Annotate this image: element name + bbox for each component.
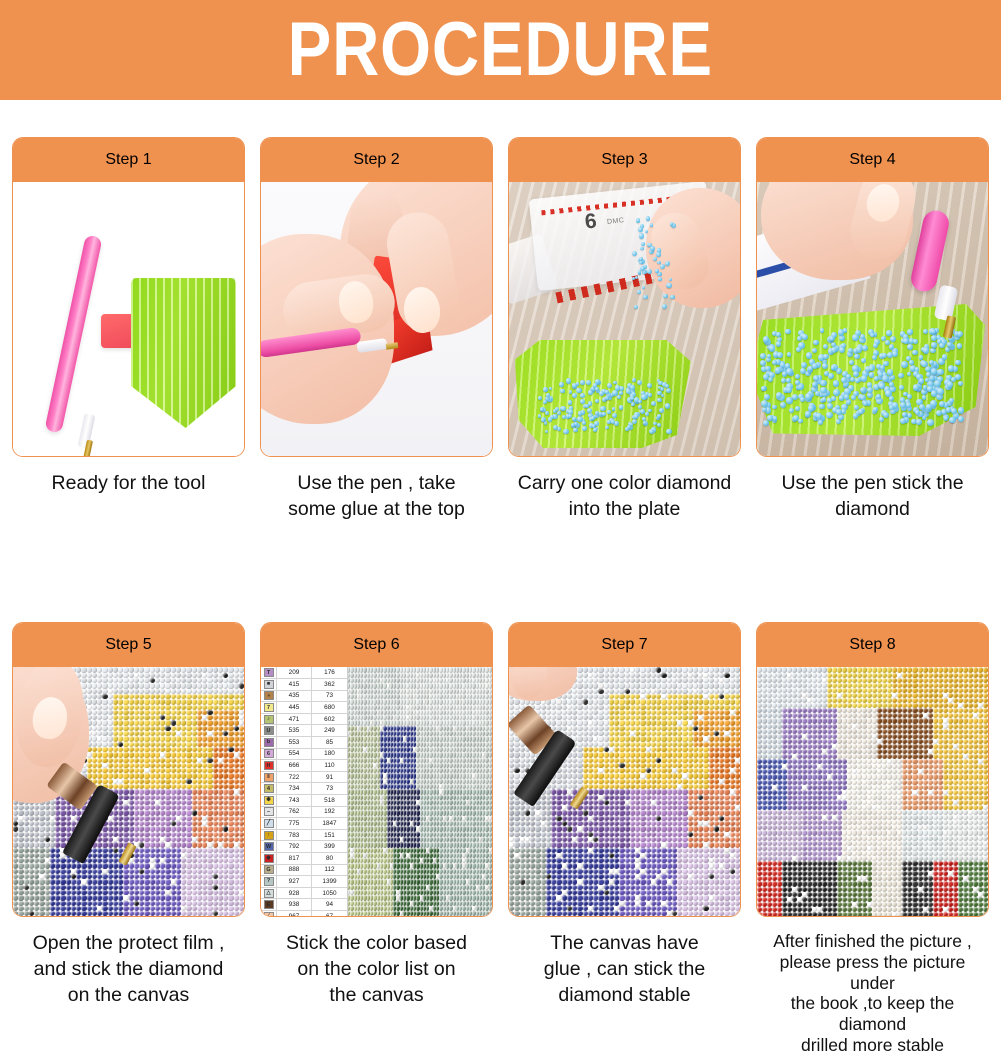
mosaic-bead <box>81 895 86 900</box>
diamond-bead <box>797 336 802 341</box>
diamond-bead <box>907 329 913 335</box>
mosaic-bead <box>123 752 128 757</box>
diamond-bead <box>921 361 928 368</box>
diamond-bead <box>631 403 635 407</box>
diamond-bead <box>883 412 889 418</box>
mosaic-bead <box>228 842 233 847</box>
mosaic-bead <box>150 863 155 868</box>
diamond-bead <box>855 378 860 383</box>
diamond-bead <box>900 418 906 424</box>
step-cell-1: Step 1 Ready for the tool <box>12 137 245 522</box>
diamond-bead <box>780 362 786 368</box>
diamond-bead <box>820 380 827 387</box>
mosaic-bead <box>81 683 86 688</box>
mosaic-bead <box>449 826 452 831</box>
mosaic-bead <box>239 773 244 778</box>
mosaic-bead <box>239 810 244 815</box>
diamond-bead <box>641 242 645 246</box>
mosaic-bead <box>165 699 170 704</box>
step-4-photo <box>757 182 988 456</box>
mosaic-bead <box>102 667 107 672</box>
mosaic-bead <box>186 810 191 815</box>
mosaic-bead <box>18 810 23 815</box>
mosaic-bead <box>87 895 92 900</box>
diamond-bead <box>776 341 781 346</box>
mosaic-bead <box>18 863 23 868</box>
mosaic-bead <box>108 683 113 688</box>
diamond-bead <box>873 343 878 348</box>
mosaic-bead <box>144 736 149 741</box>
diamond-bead <box>591 416 595 420</box>
mosaic-bead <box>234 667 239 672</box>
diamond-bead <box>930 348 936 354</box>
mosaic-bead <box>165 810 170 815</box>
mosaic-bead <box>186 895 191 900</box>
mosaic-bead <box>207 736 212 741</box>
mosaic-bead <box>150 758 155 763</box>
diamond-bead <box>907 344 913 350</box>
mosaic-bead <box>66 826 71 831</box>
mosaic-bead <box>239 752 244 757</box>
diamond-bead <box>958 407 964 413</box>
diamond-bead <box>545 411 549 415</box>
mosaic-bead <box>144 895 149 900</box>
mosaic-bead <box>489 699 492 704</box>
mosaic-bead <box>144 667 149 672</box>
diamond-bead <box>568 400 573 405</box>
mosaic-bead <box>129 683 134 688</box>
mosaic-bead <box>129 667 134 672</box>
mosaic-bead <box>449 720 452 725</box>
step-card-4[interactable]: Step 4 <box>756 137 989 457</box>
mosaic-row <box>13 826 244 831</box>
page-banner: PROCEDURE <box>0 0 1001 100</box>
diamond-bead <box>903 338 909 344</box>
mosaic-row <box>13 879 244 884</box>
mosaic-bead <box>39 879 44 884</box>
mosaic-bead <box>186 863 191 868</box>
diamond-bead <box>861 358 866 363</box>
mosaic-bead <box>239 736 244 741</box>
diamond-bead <box>582 421 586 425</box>
mosaic-bead <box>165 826 170 831</box>
mosaic-bead <box>144 810 149 815</box>
mosaic-bead <box>449 842 452 847</box>
diamond-bead <box>611 420 615 424</box>
diamond-bead <box>780 402 786 408</box>
mosaic-bead <box>213 752 218 757</box>
mosaic-bead <box>129 720 134 725</box>
mosaic-bead <box>213 810 218 815</box>
mosaic-row <box>347 826 492 831</box>
mosaic-bead <box>228 667 233 672</box>
step-5-photo <box>13 667 244 916</box>
diamond-bead <box>772 405 777 410</box>
mosaic-bead <box>234 773 239 778</box>
diamond-bead <box>637 290 641 294</box>
mosaic-bead <box>150 699 155 704</box>
diamond-bead <box>812 382 817 387</box>
diamond-bead <box>939 401 945 407</box>
mosaic-bead <box>129 699 134 704</box>
diamond-bead <box>869 372 874 377</box>
diamond-bead <box>619 391 623 395</box>
diamond-bead <box>560 389 565 394</box>
step-1-header: Step 1 <box>13 138 244 182</box>
diamond-bead <box>824 371 829 376</box>
diamond-bead <box>931 329 936 334</box>
diamond-bead <box>634 305 638 309</box>
diamond-bead <box>889 396 894 401</box>
diamond-bead <box>942 354 947 359</box>
mosaic-bead <box>87 879 92 884</box>
mosaic-bead <box>108 699 113 704</box>
mosaic-bead <box>192 826 197 831</box>
diamond-bead <box>795 380 800 385</box>
step-card-1[interactable]: Step 1 <box>12 137 245 457</box>
diamond-bead <box>805 411 810 416</box>
mosaic-bead <box>192 810 197 815</box>
mosaic-bead <box>186 683 191 688</box>
mosaic-bead <box>60 810 65 815</box>
diamond-bead <box>657 261 660 264</box>
mosaic-row <box>347 789 492 794</box>
mosaic-bead <box>228 826 233 831</box>
diamond-bead <box>946 407 952 413</box>
mosaic-bead <box>207 773 212 778</box>
mosaic-bead <box>186 879 191 884</box>
mosaic-bead <box>489 736 492 741</box>
diamond-bead <box>651 401 656 406</box>
diamond-bead <box>612 390 617 395</box>
step-card-5[interactable]: Step 5 <box>12 622 245 917</box>
step-cell-3: Step 3 6 DMC <box>508 137 741 522</box>
mosaic-bead <box>129 895 134 900</box>
mosaic-bead <box>213 683 218 688</box>
mosaic-bead <box>192 879 197 884</box>
mosaic-bead <box>123 810 128 815</box>
diamond-bead <box>775 367 782 374</box>
mosaic-bead <box>45 863 50 868</box>
diamond-bead <box>594 421 599 426</box>
diamond-bead <box>657 414 661 418</box>
mosaic-row <box>347 773 492 778</box>
diamond-bead <box>580 380 585 385</box>
diamond-bead <box>831 347 837 353</box>
mosaic-bead <box>228 879 233 884</box>
mosaic-bead <box>144 758 149 763</box>
diamond-bead <box>887 369 893 375</box>
mosaic-bead <box>129 826 134 831</box>
diamond-bead <box>919 378 924 383</box>
mosaic-bead <box>144 826 149 831</box>
mosaic-bead <box>150 810 155 815</box>
mosaic-bead <box>192 842 197 847</box>
mosaic-bead <box>171 863 176 868</box>
mosaic-bead <box>234 758 239 763</box>
mosaic-bead <box>102 758 107 763</box>
mosaic-bead <box>228 773 233 778</box>
mosaic-bead <box>165 842 170 847</box>
diamond-bead <box>767 415 773 421</box>
diamond-bead <box>882 375 889 382</box>
step-4-header: Step 4 <box>757 138 988 182</box>
diamond-bead <box>828 373 834 379</box>
diamond-bead <box>760 360 766 366</box>
diamond-bead <box>557 411 561 415</box>
mosaic-bead <box>186 773 191 778</box>
mosaic-bead <box>87 863 92 868</box>
mosaic-bead <box>108 752 113 757</box>
mosaic-bead <box>228 736 233 741</box>
diamond-bead <box>573 428 578 433</box>
mosaic-bead <box>171 699 176 704</box>
step-card-6[interactable]: Step 6 T209176■415362◑435737445680♪47160… <box>260 622 493 917</box>
step-3-header-label: Step 3 <box>601 151 647 169</box>
diamond-bead <box>763 336 770 343</box>
step-card-2[interactable]: Step 2 <box>260 137 493 457</box>
mosaic-canvas <box>347 667 492 916</box>
diamond-bead <box>951 408 957 414</box>
diamond-bead <box>944 416 949 421</box>
diamond-bead <box>638 400 642 404</box>
diamond-bead <box>639 233 644 238</box>
mosaic-bead <box>207 789 212 794</box>
diamond-bead <box>913 339 918 344</box>
mosaic-bead <box>213 895 218 900</box>
diamond-bead <box>645 230 648 233</box>
step-cell-5: Step 5 Open the protect film , and stick… <box>12 622 245 1055</box>
diamond-bead <box>663 294 668 299</box>
mosaic-row <box>347 810 492 815</box>
diamond-bead <box>646 216 651 221</box>
diamond-bead <box>605 396 609 400</box>
mosaic-bead <box>123 826 128 831</box>
step-card-3[interactable]: Step 3 6 DMC <box>508 137 741 457</box>
mosaic-bead <box>234 789 239 794</box>
diamond-bead <box>665 261 670 266</box>
mosaic-bead <box>489 773 492 778</box>
mosaic-bead <box>150 879 155 884</box>
mosaic-bead <box>239 789 244 794</box>
diamond-bead <box>765 366 771 372</box>
diamond-bead <box>822 397 827 402</box>
mosaic-bead <box>165 667 170 672</box>
diamond-bead <box>599 391 604 396</box>
mosaic-bead <box>228 683 233 688</box>
mosaic-bead <box>24 895 29 900</box>
mosaic-bead <box>171 879 176 884</box>
mosaic-bead <box>150 667 155 672</box>
diamond-bead <box>931 342 936 347</box>
mosaic-bead <box>489 667 492 672</box>
diamond-bead <box>887 352 893 358</box>
diamond-bead <box>662 304 667 309</box>
diamond-bead <box>566 378 571 383</box>
diamond-bead <box>572 393 577 398</box>
diamond-bead <box>949 398 954 403</box>
diamond-bead <box>815 391 820 396</box>
mosaic-bead <box>144 699 149 704</box>
diamond-bead <box>862 345 869 352</box>
mosaic-bead <box>87 699 92 704</box>
diamond-bead <box>563 429 568 434</box>
mosaic-bead <box>449 773 452 778</box>
step-2-photo <box>261 182 492 456</box>
diamond-bead <box>586 380 591 385</box>
mosaic-bead <box>234 683 239 688</box>
mosaic-bead <box>213 720 218 725</box>
mosaic-bead <box>60 879 65 884</box>
mosaic-bead <box>45 879 50 884</box>
mosaic-bead <box>165 879 170 884</box>
mosaic-bead <box>228 752 233 757</box>
diamond-bead <box>659 408 664 413</box>
step-cell-4: Step 4 Use the pe <box>756 137 989 522</box>
mosaic-bead <box>213 842 218 847</box>
diamond-bead <box>670 295 675 300</box>
diamond-bead <box>889 344 895 350</box>
diamond-bead <box>851 395 856 400</box>
diamond-bead <box>806 352 812 358</box>
diamond-bead <box>861 375 868 382</box>
diamond-bead <box>820 328 825 333</box>
diamond-bead <box>776 332 781 337</box>
diamond-bead <box>922 395 927 400</box>
diamond-bead <box>648 393 651 396</box>
diamond-bead <box>919 355 924 360</box>
mosaic-bead <box>150 683 155 688</box>
diamond-bead <box>812 363 818 369</box>
mosaic-bead <box>234 842 239 847</box>
diamond-bead <box>650 223 654 227</box>
mosaic-bead <box>129 752 134 757</box>
diamond-bead <box>543 400 547 404</box>
diamond-bead <box>572 383 577 388</box>
diamond-bead <box>667 283 672 288</box>
mosaic-bead <box>18 842 23 847</box>
diamond-bead <box>802 334 808 340</box>
diamond-bead <box>957 343 962 348</box>
mosaic-bead <box>228 810 233 815</box>
diamond-bead <box>795 374 800 379</box>
mosaic-bead <box>39 842 44 847</box>
diamond-bead <box>909 360 914 365</box>
mosaic-bead <box>207 895 212 900</box>
diamonds-in-tray <box>537 378 667 430</box>
mosaic-bead <box>129 863 134 868</box>
mosaic-bead <box>108 720 113 725</box>
diamond-bead <box>795 406 800 411</box>
diamond-bead <box>595 399 599 403</box>
mosaic-bead <box>489 879 492 884</box>
diamond-bead <box>867 392 873 398</box>
diamond-bead <box>549 387 553 391</box>
diamond-bead <box>548 417 552 421</box>
mosaic-bead <box>150 842 155 847</box>
mosaic-bead <box>213 758 218 763</box>
mosaic-bead <box>123 683 128 688</box>
mosaic-bead <box>60 826 65 831</box>
mosaic-row <box>347 863 492 868</box>
mosaic-bead <box>81 879 86 884</box>
mosaic-bead <box>207 810 212 815</box>
diamond-bead <box>796 347 801 352</box>
diamond-bead <box>635 276 638 279</box>
mosaic-bead <box>192 895 197 900</box>
diamond-bead <box>561 406 566 411</box>
mosaic-bead <box>129 810 134 815</box>
mosaic-bead <box>123 773 128 778</box>
mosaic-bead <box>449 879 452 884</box>
mosaic-bead <box>123 879 128 884</box>
diamond-bead <box>822 363 828 369</box>
diamond-bead <box>605 390 609 394</box>
mosaic-bead <box>239 863 244 868</box>
mosaic-bead <box>192 683 197 688</box>
diamond-bead <box>951 377 956 382</box>
mosaic-bead <box>102 752 107 757</box>
mosaic-bead <box>39 863 44 868</box>
mosaic-bead <box>108 895 113 900</box>
diamond-bead <box>639 261 643 265</box>
mosaic-bead <box>207 826 212 831</box>
diamond-bead <box>890 336 896 342</box>
mosaic-bead <box>165 683 170 688</box>
mosaic-bead <box>165 736 170 741</box>
mosaic-bead <box>144 879 149 884</box>
step-cell-6: Step 6 T209176■415362◑435737445680♪47160… <box>260 622 493 1055</box>
diamond-bead <box>934 380 940 386</box>
mosaic-bead <box>449 863 452 868</box>
diamond-bead <box>605 426 609 430</box>
mosaic-bead <box>489 789 492 794</box>
mosaic-bead <box>102 699 107 704</box>
diamond-bead <box>632 378 636 382</box>
mosaic-bead <box>489 863 492 868</box>
diamond-bead <box>955 374 961 380</box>
mosaic-bead <box>108 863 113 868</box>
mosaic-bead <box>186 667 191 672</box>
diamond-bead <box>612 407 616 411</box>
mosaic-bead <box>207 720 212 725</box>
diamond-bead <box>641 394 647 400</box>
mosaic-bead <box>228 699 233 704</box>
mosaic-bead <box>45 895 50 900</box>
mosaic-bead <box>165 863 170 868</box>
diamond-bead <box>602 412 606 416</box>
mosaic-bead <box>239 842 244 847</box>
diamond-bead <box>647 383 652 388</box>
mosaic-bead <box>24 879 29 884</box>
diamond-bead <box>929 360 934 365</box>
diamond-bead <box>883 361 888 366</box>
step-1-header-label: Step 1 <box>105 151 151 169</box>
diamond-bead <box>860 387 866 393</box>
step-6-header: Step 6 <box>261 623 492 667</box>
bag-number-label: 6 <box>584 209 598 234</box>
diamond-bead <box>838 329 845 336</box>
mosaic-bead <box>449 895 452 900</box>
mosaic-bead <box>87 758 92 763</box>
mosaic-bead <box>186 720 191 725</box>
mosaic-bead <box>144 863 149 868</box>
mosaic-bead <box>228 758 233 763</box>
mosaic-bead <box>207 842 212 847</box>
mosaic-bead <box>81 667 86 672</box>
mosaic-bead <box>449 789 452 794</box>
diamond-bead <box>814 376 819 381</box>
